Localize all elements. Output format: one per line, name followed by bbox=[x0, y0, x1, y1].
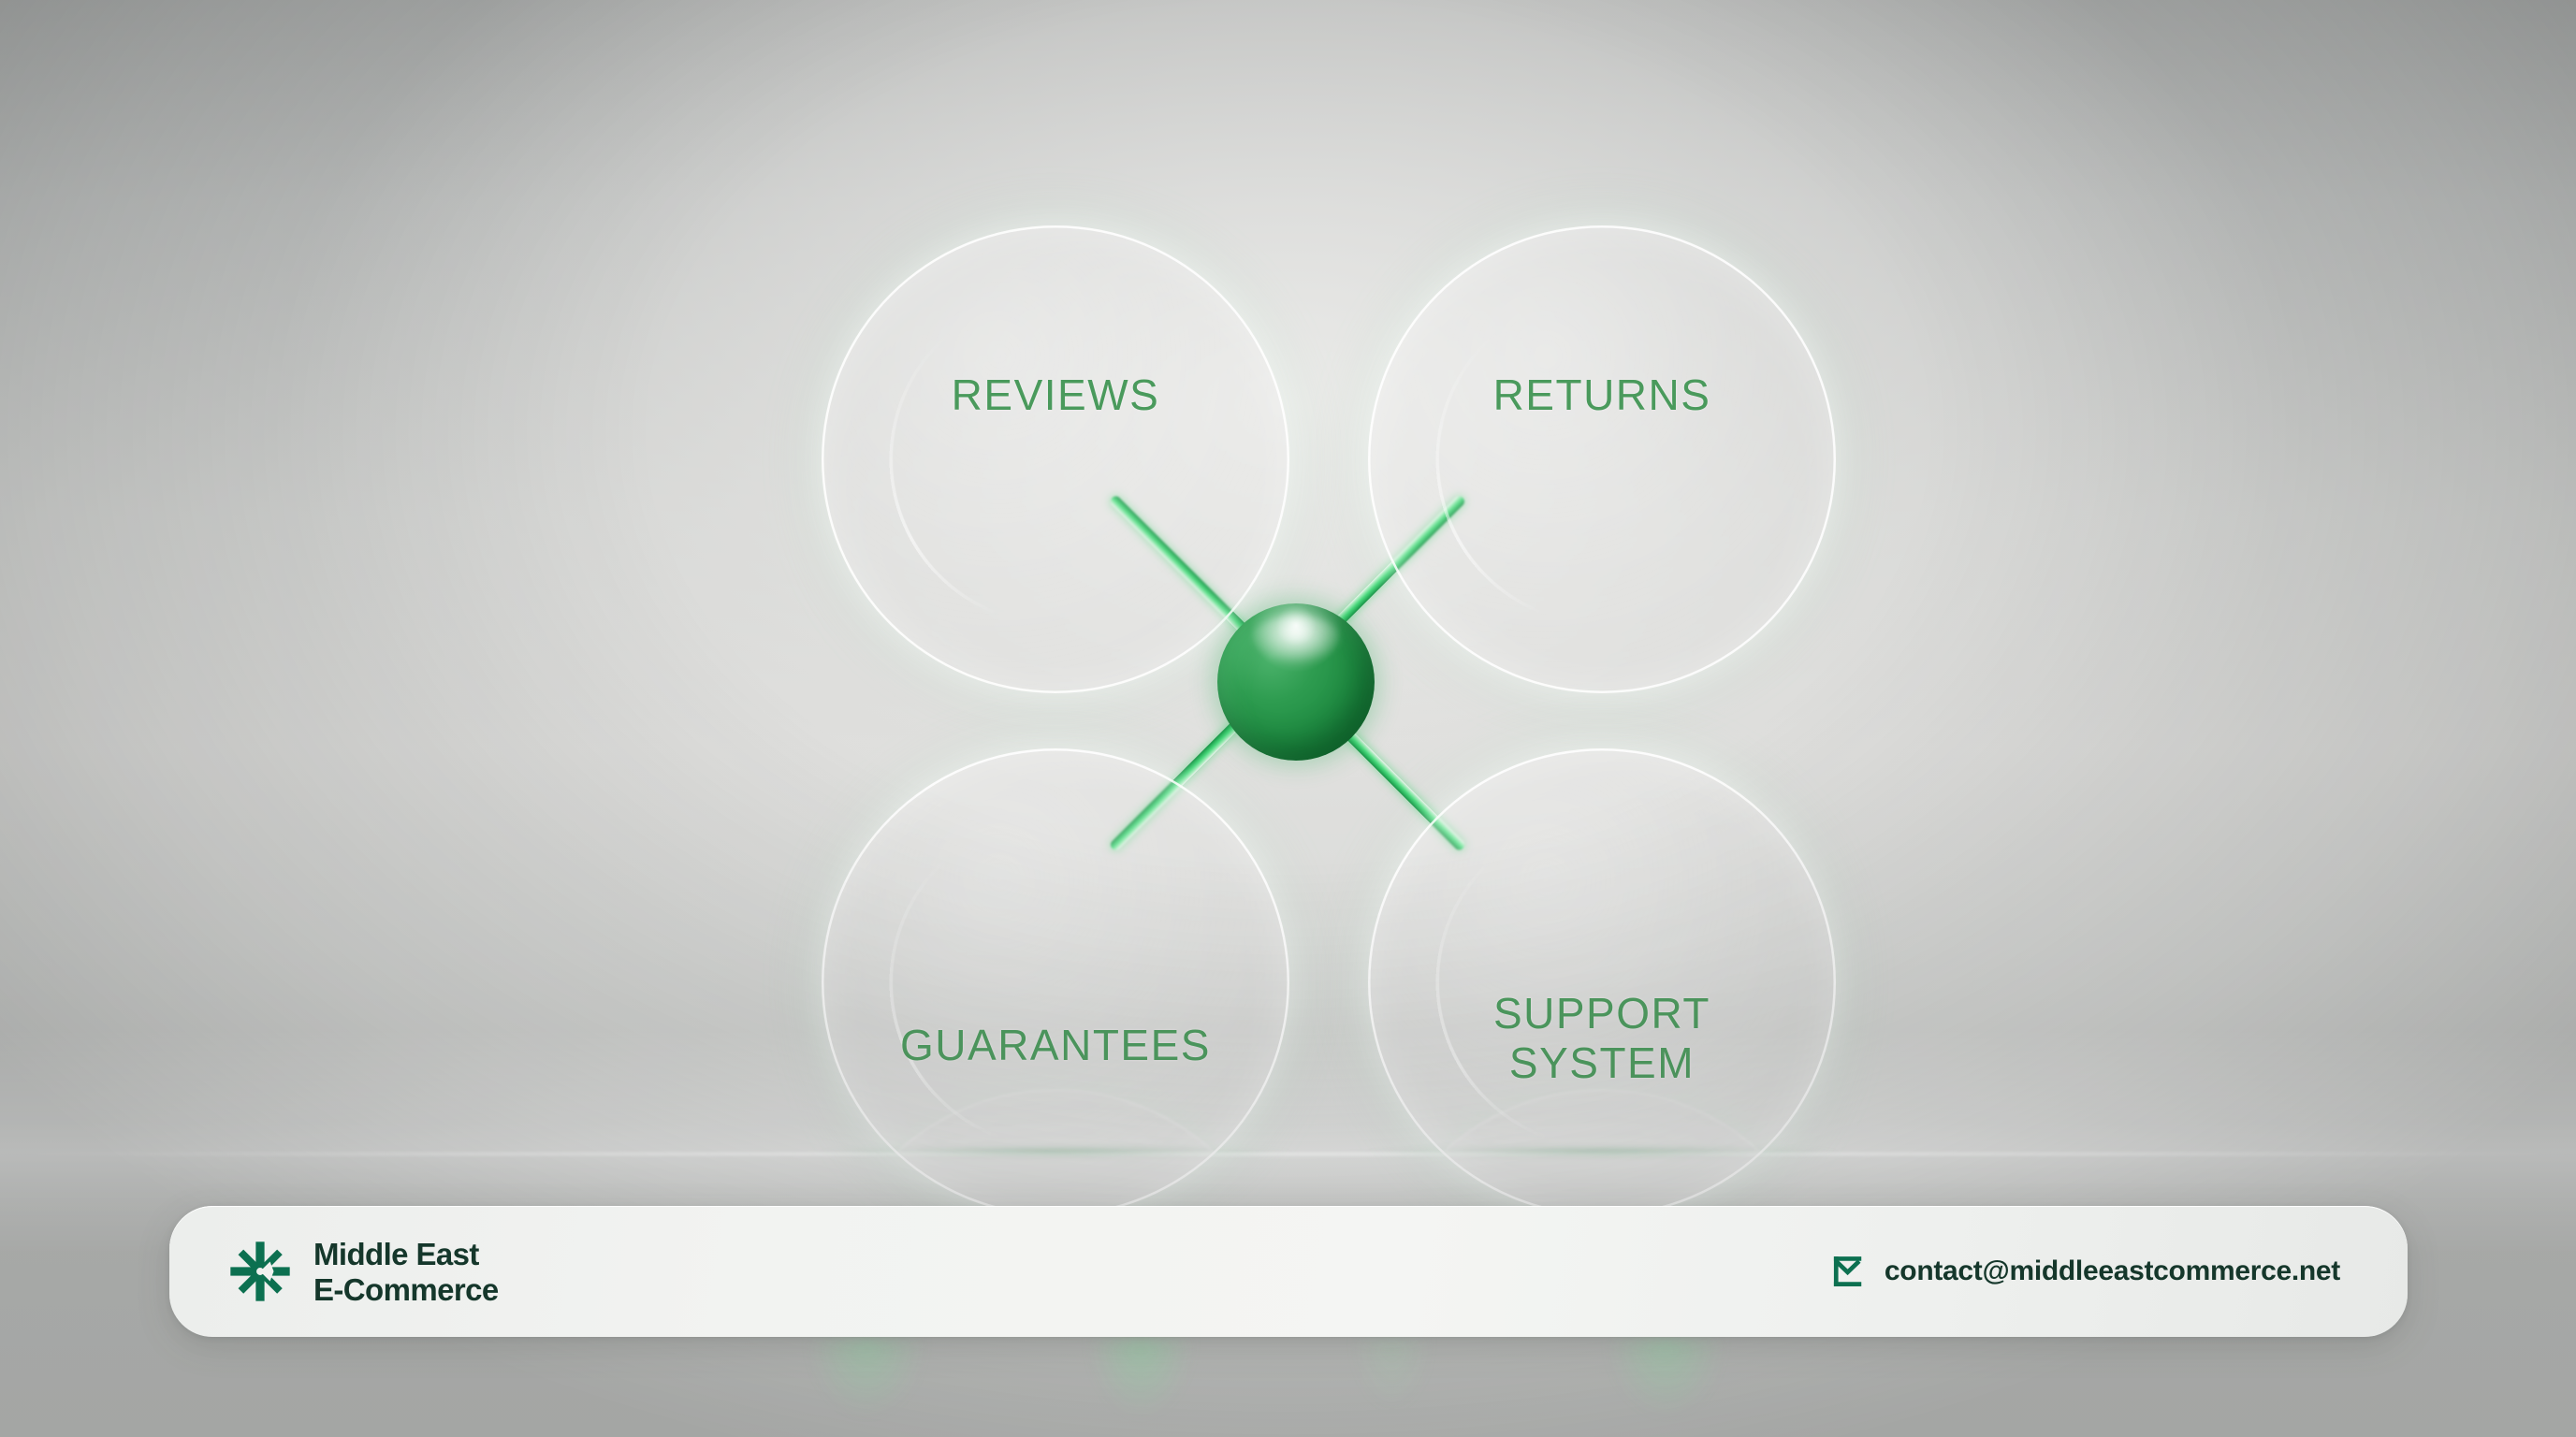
asterisk-star-icon bbox=[229, 1241, 291, 1302]
hub-and-spoke-diagram: REVIEWS RETURNS GUARANTEES SUPPORT SYSTE… bbox=[0, 0, 2576, 1207]
contact-email[interactable]: contact@middleeastcommerce.net bbox=[1885, 1256, 2340, 1287]
node-label-support-system: SUPPORT SYSTEM bbox=[1477, 989, 1727, 1089]
scene-stage: REVIEWS RETURNS GUARANTEES SUPPORT SYSTE… bbox=[0, 0, 2576, 1437]
brand-lockup[interactable]: Middle East E-Commerce bbox=[229, 1239, 499, 1305]
brand-line-2: E-Commerce bbox=[313, 1274, 499, 1305]
center-sphere-icon bbox=[1217, 603, 1375, 761]
under-footer-glow bbox=[730, 1338, 1871, 1437]
brand-wordmark: Middle East E-Commerce bbox=[313, 1239, 499, 1305]
footer-bar: Middle East E-Commerce contact@middleeas… bbox=[169, 1206, 2408, 1337]
node-label-reviews: REVIEWS bbox=[935, 370, 1177, 420]
node-returns[interactable]: RETURNS bbox=[1368, 225, 1836, 693]
node-label-returns: RETURNS bbox=[1477, 370, 1728, 420]
brand-line-1: Middle East bbox=[313, 1239, 499, 1270]
node-guarantees[interactable]: GUARANTEES bbox=[822, 748, 1289, 1216]
contact-info[interactable]: contact@middleeastcommerce.net bbox=[1832, 1256, 2340, 1287]
envelope-e-icon bbox=[1832, 1256, 1864, 1287]
node-label-guarantees: GUARANTEES bbox=[883, 1021, 1228, 1070]
node-support-system[interactable]: SUPPORT SYSTEM bbox=[1368, 748, 1836, 1216]
node-reviews[interactable]: REVIEWS bbox=[822, 225, 1289, 693]
